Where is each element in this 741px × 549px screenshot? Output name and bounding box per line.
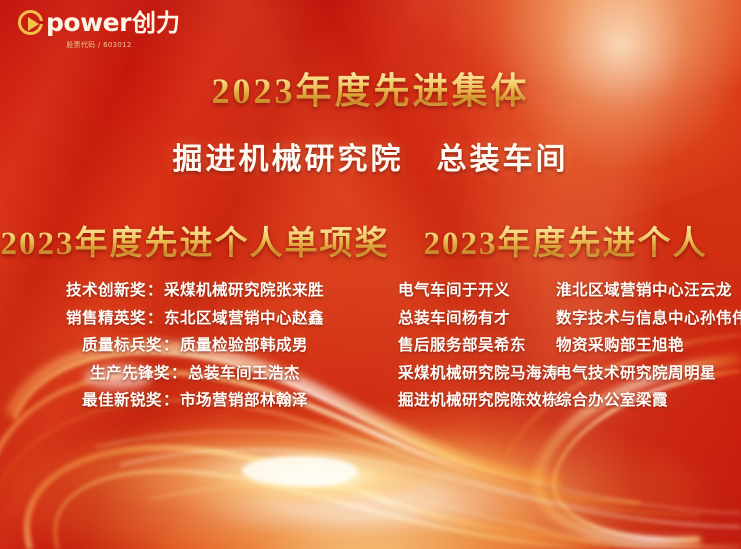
subtitle-collectives: 掘进机械研究院 总装车间 xyxy=(0,134,741,178)
award-poster: power 创力 股票代码 / 603012 2023年度先进集体 掘进机械研究… xyxy=(0,0,741,549)
award-recipient: 总装车间王浩杰 xyxy=(188,365,300,382)
list-item: 电气车间于开义 淮北区域营销中心汪云龙 xyxy=(390,283,741,299)
brand-logo: power 创力 股票代码 / 603012 xyxy=(18,10,180,50)
list-item: 技术创新奖：采煤机械研究院张来胜 xyxy=(0,283,390,299)
award-separator: ： xyxy=(147,282,163,299)
award-label: 质量标兵奖 xyxy=(82,337,162,354)
list-item: 最佳新锐奖：市场营销部林翰泽 xyxy=(0,393,390,409)
award-separator: ： xyxy=(163,392,179,409)
award-label: 销售精英奖 xyxy=(66,310,146,327)
logo-row: power 创力 xyxy=(18,10,180,35)
award-recipient: 总装车间杨有才 xyxy=(390,311,556,327)
single-award-column: 技术创新奖：采煤机械研究院张来胜 销售精英奖：东北区域营销中心赵鑫 质量标兵奖：… xyxy=(0,283,390,421)
award-label: 技术创新奖 xyxy=(66,282,146,299)
award-recipient: 采煤机械研究院马海涛 xyxy=(390,366,556,382)
award-label: 生产先锋奖 xyxy=(90,365,170,382)
award-recipient: 电气车间于开义 xyxy=(390,283,556,299)
award-recipient: 东北区域营销中心赵鑫 xyxy=(164,310,324,327)
award-label: 最佳新锐奖 xyxy=(82,392,162,409)
power-circle-logo-icon xyxy=(18,10,43,35)
list-item: 采煤机械研究院马海涛 电气技术研究院周明星 xyxy=(390,366,741,382)
award-recipient: 采煤机械研究院张来胜 xyxy=(164,282,324,299)
main-title: 2023年度先进集体 xyxy=(0,62,741,114)
award-recipient: 综合办公室梁霞 xyxy=(556,393,741,409)
logo-wordmark: power xyxy=(46,10,131,35)
list-item: 总装车间杨有才 数字技术与信息中心孙伟伟 xyxy=(390,311,741,327)
award-recipient: 掘进机械研究院陈效栋 xyxy=(390,393,556,409)
list-item: 销售精英奖：东北区域营销中心赵鑫 xyxy=(0,311,390,327)
stock-code-label: 股票代码 / 603012 xyxy=(66,40,131,50)
award-recipient: 电气技术研究院周明星 xyxy=(556,366,741,382)
award-recipient: 市场营销部林翰泽 xyxy=(180,392,308,409)
award-lists: 技术创新奖：采煤机械研究院张来胜 销售精英奖：东北区域营销中心赵鑫 质量标兵奖：… xyxy=(0,283,741,421)
individual-award-column: 电气车间于开义 淮北区域营销中心汪云龙 总装车间杨有才 数字技术与信息中心孙伟伟… xyxy=(390,283,741,421)
list-item: 掘进机械研究院陈效栋 综合办公室梁霞 xyxy=(390,393,741,409)
heading-single-awards: 2023年度先进个人单项奖 xyxy=(0,216,390,264)
section-headings: 2023年度先进个人单项奖 2023年度先进个人 xyxy=(0,216,741,264)
list-item: 质量标兵奖：质量检验部韩成男 xyxy=(0,338,390,354)
logo-wordmark-cn: 创力 xyxy=(132,11,180,35)
award-separator: ： xyxy=(171,365,187,382)
list-item: 生产先锋奖：总装车间王浩杰 xyxy=(0,366,390,382)
award-recipient: 物资采购部王旭艳 xyxy=(556,338,741,354)
list-item: 售后服务部吴希东 物资采购部王旭艳 xyxy=(390,338,741,354)
award-recipient: 售后服务部吴希东 xyxy=(390,338,556,354)
award-recipient: 淮北区域营销中心汪云龙 xyxy=(556,283,741,299)
award-separator: ： xyxy=(147,310,163,327)
award-separator: ： xyxy=(163,337,179,354)
award-recipient: 质量检验部韩成男 xyxy=(180,337,308,354)
award-recipient: 数字技术与信息中心孙伟伟 xyxy=(556,311,741,327)
heading-individual-awards: 2023年度先进个人 xyxy=(390,216,741,264)
